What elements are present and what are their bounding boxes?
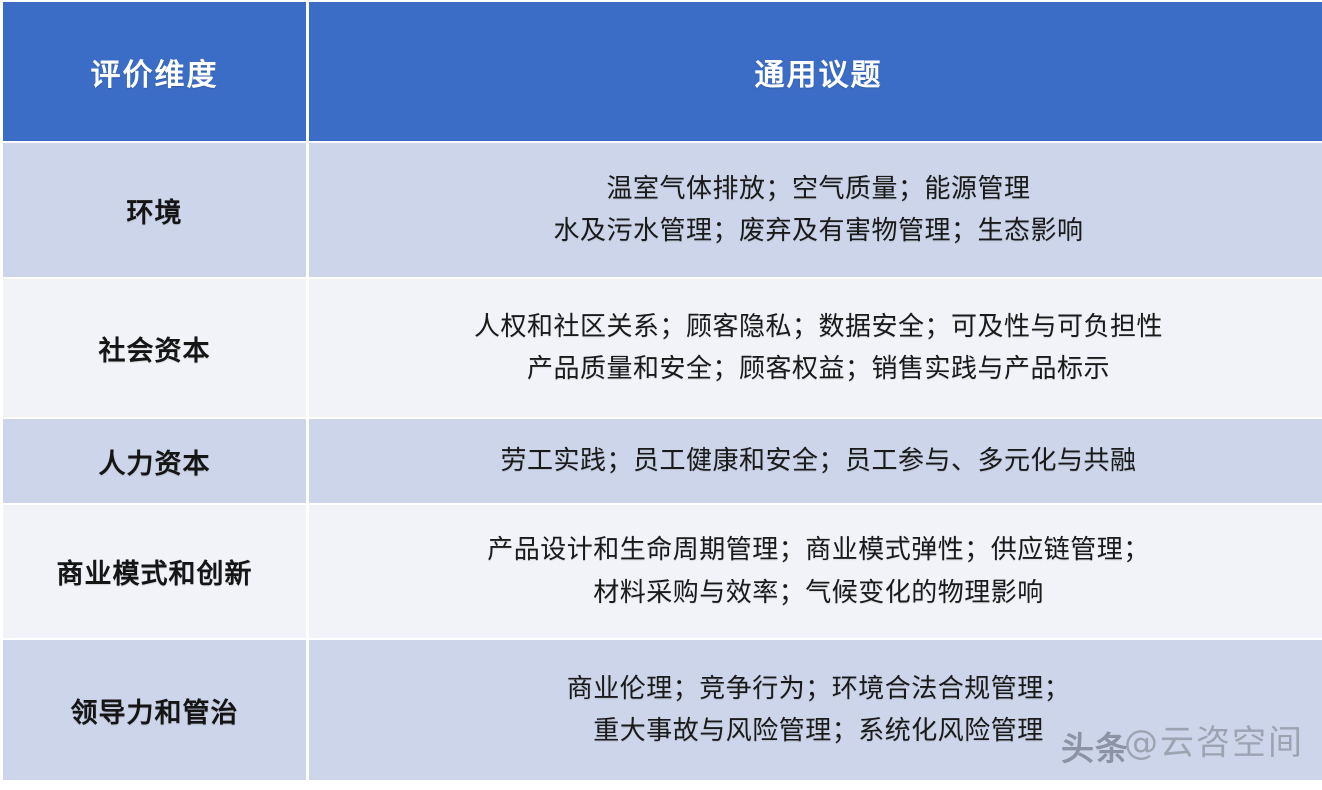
topic-line: 商业伦理；竞争行为；环境合法合规管理； <box>309 668 1322 710</box>
column-header-topic: 通用议题 <box>309 2 1322 141</box>
table-body: 环境 温室气体排放；空气质量；能源管理 水及污水管理；废弃及有害物管理；生态影响… <box>3 143 1322 780</box>
table-row: 人力资本 劳工实践；员工健康和安全；员工参与、多元化与共融 <box>3 419 1322 503</box>
table-row: 商业模式和创新 产品设计和生命周期管理；商业模式弹性；供应链管理； 材料采购与效… <box>3 505 1322 638</box>
esg-topics-table: 评价维度 通用议题 环境 温室气体排放；空气质量；能源管理 水及污水管理；废弃及… <box>0 0 1322 782</box>
cell-dimension-environment: 环境 <box>3 143 306 277</box>
topic-line: 材料采购与效率；气候变化的物理影响 <box>309 572 1322 614</box>
topic-line: 温室气体排放；空气质量；能源管理 <box>309 168 1322 210</box>
cell-topics-leadership-governance: 商业伦理；竞争行为；环境合法合规管理； 重大事故与风险管理；系统化风险管理 <box>309 640 1322 780</box>
table-header-row: 评价维度 通用议题 <box>3 2 1322 141</box>
table-row: 社会资本 人权和社区关系；顾客隐私；数据安全；可及性与可负担性 产品质量和安全；… <box>3 279 1322 417</box>
cell-topics-business-model-innovation: 产品设计和生命周期管理；商业模式弹性；供应链管理； 材料采购与效率；气候变化的物… <box>309 505 1322 638</box>
table-header: 评价维度 通用议题 <box>3 2 1322 141</box>
cell-dimension-human-capital: 人力资本 <box>3 419 306 503</box>
esg-topics-table-container: 评价维度 通用议题 环境 温室气体排放；空气质量；能源管理 水及污水管理；废弃及… <box>0 0 1322 790</box>
table-row: 领导力和管治 商业伦理；竞争行为；环境合法合规管理； 重大事故与风险管理；系统化… <box>3 640 1322 780</box>
cell-topics-social-capital: 人权和社区关系；顾客隐私；数据安全；可及性与可负担性 产品质量和安全；顾客权益；… <box>309 279 1322 417</box>
cell-topics-human-capital: 劳工实践；员工健康和安全；员工参与、多元化与共融 <box>309 419 1322 503</box>
table-row: 环境 温室气体排放；空气质量；能源管理 水及污水管理；废弃及有害物管理；生态影响 <box>3 143 1322 277</box>
topic-line: 水及污水管理；废弃及有害物管理；生态影响 <box>309 210 1322 252</box>
topic-line: 产品设计和生命周期管理；商业模式弹性；供应链管理； <box>309 529 1322 571</box>
topic-line: 人权和社区关系；顾客隐私；数据安全；可及性与可负担性 <box>309 306 1322 348</box>
cell-dimension-social-capital: 社会资本 <box>3 279 306 417</box>
topic-line: 产品质量和安全；顾客权益；销售实践与产品标示 <box>309 348 1322 390</box>
cell-dimension-business-model-innovation: 商业模式和创新 <box>3 505 306 638</box>
topic-line: 重大事故与风险管理；系统化风险管理 <box>309 710 1322 752</box>
column-header-dimension: 评价维度 <box>3 2 306 141</box>
topic-line: 劳工实践；员工健康和安全；员工参与、多元化与共融 <box>309 440 1322 482</box>
cell-topics-environment: 温室气体排放；空气质量；能源管理 水及污水管理；废弃及有害物管理；生态影响 <box>309 143 1322 277</box>
cell-dimension-leadership-governance: 领导力和管治 <box>3 640 306 780</box>
